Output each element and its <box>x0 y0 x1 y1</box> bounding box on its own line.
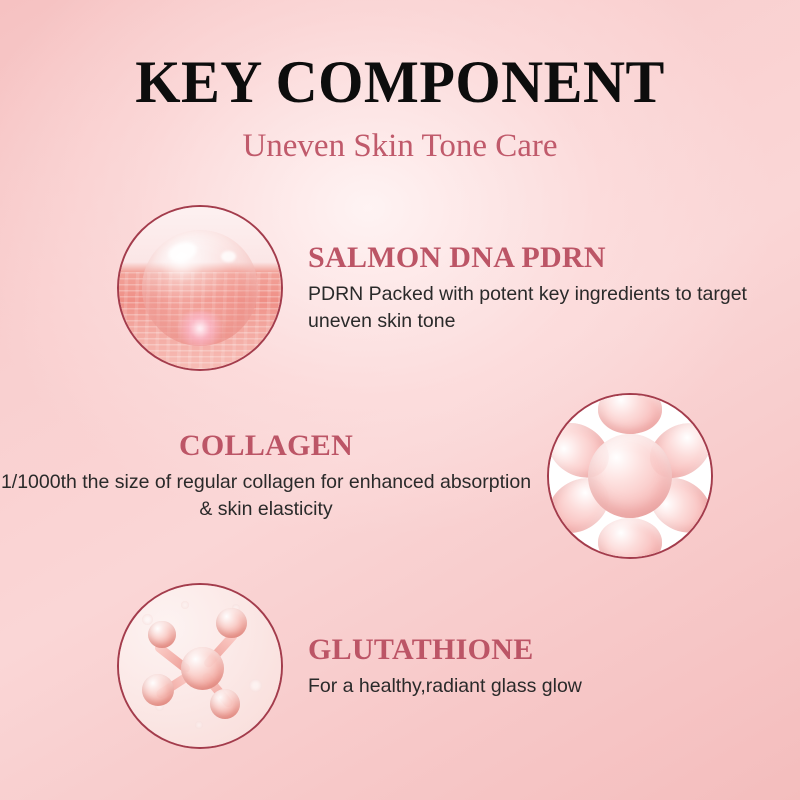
page-title: KEY COMPONENT <box>12 0 788 112</box>
molecule-atom-icon <box>148 621 176 649</box>
infographic-page: KEY COMPONENT Uneven Skin Tone Care SALM… <box>0 0 800 800</box>
molecule-image <box>117 583 283 749</box>
droplet-icon <box>119 207 281 369</box>
image-circle-frame <box>117 583 283 749</box>
molecule-atom-icon <box>216 608 247 639</box>
highlight-icon <box>221 251 236 262</box>
ingredient-description: PDRN Packed with potent key ingredients … <box>308 274 800 335</box>
ingredient-row-collagen: COLLAGEN 1/1000th the size of regular co… <box>0 393 800 559</box>
capsule-icon <box>598 518 663 559</box>
central-sphere-icon <box>588 434 672 518</box>
ingredient-title: GLUTATHIONE <box>308 633 800 666</box>
image-circle-frame <box>547 393 713 559</box>
molecule-icon <box>119 585 281 747</box>
bokeh-dot-icon <box>249 679 262 692</box>
ingredient-row-salmon-dna-pdrn: SALMON DNA PDRN PDRN Packed with potent … <box>0 205 800 371</box>
molecule-atom-icon <box>142 674 174 706</box>
ingredient-description: 1/1000th the size of regular collagen fo… <box>0 462 532 523</box>
ingredient-title: SALMON DNA PDRN <box>308 241 800 274</box>
capsule-icon <box>598 393 663 434</box>
ingredient-title: COLLAGEN <box>0 429 532 462</box>
bokeh-dot-icon <box>195 721 203 729</box>
ingredient-text-block: SALMON DNA PDRN PDRN Packed with potent … <box>283 241 800 335</box>
header: KEY COMPONENT Uneven Skin Tone Care <box>0 0 800 163</box>
droplet-bubble-image <box>117 205 283 371</box>
bokeh-dot-icon <box>181 601 189 609</box>
collagen-capsules-image <box>547 393 713 559</box>
ingredient-text-block: GLUTATHIONE For a healthy,radiant glass … <box>283 633 800 700</box>
molecule-atom-icon <box>210 689 241 720</box>
ingredient-text-block: COLLAGEN 1/1000th the size of regular co… <box>0 429 547 523</box>
ingredient-description: For a healthy,radiant glass glow <box>308 666 800 700</box>
page-subtitle: Uneven Skin Tone Care <box>0 112 800 163</box>
light-flare-icon <box>172 311 227 347</box>
image-circle-frame <box>117 205 283 371</box>
ingredient-row-glutathione: GLUTATHIONE For a healthy,radiant glass … <box>0 583 800 749</box>
capsules-icon <box>549 395 711 557</box>
